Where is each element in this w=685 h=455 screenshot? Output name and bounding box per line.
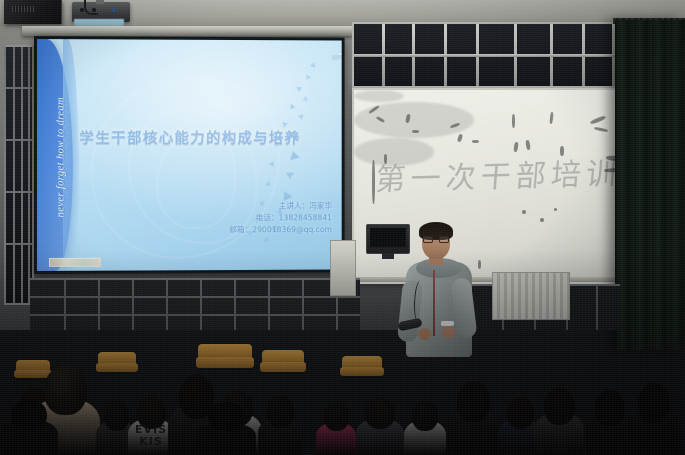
student-white-shirt-mid xyxy=(404,397,446,455)
student-plaid-head xyxy=(365,397,395,429)
chair-right xyxy=(340,367,384,376)
wall-speaker xyxy=(4,0,62,24)
shirt-graphic-text: EVIS KIS xyxy=(132,424,170,448)
student-stripes-right xyxy=(534,383,584,455)
projector-cable xyxy=(84,0,98,15)
lecturer-right-hand xyxy=(442,326,455,338)
chair-center xyxy=(196,357,254,368)
slide-presenter-line: 主讲人：冯家华 xyxy=(229,200,332,212)
transom-window xyxy=(352,22,637,88)
student-far-right-b-head xyxy=(638,383,670,423)
eyeglasses-icon xyxy=(423,236,449,243)
student-boy-right-head xyxy=(507,397,534,429)
chair-right-of-center xyxy=(260,362,306,372)
student-front-center-head xyxy=(208,402,245,431)
lecturer-zipper xyxy=(433,270,435,336)
projector-led-icon xyxy=(112,8,116,12)
lower-window-grid xyxy=(30,278,360,330)
student-pink-jacket xyxy=(316,399,356,455)
student-far-right-a-head xyxy=(595,390,625,426)
wall-radiator xyxy=(492,272,570,320)
student-front-left xyxy=(0,395,58,455)
student-white-shirt-mid-head xyxy=(412,401,438,431)
student-front-center xyxy=(196,399,256,455)
screen-roller-casing xyxy=(22,26,352,36)
window-curtain[interactable] xyxy=(615,20,685,350)
chair-mid-left xyxy=(96,363,138,372)
student-right-tall xyxy=(446,377,500,455)
slide-credits: 主讲人：冯家华 电话：13828458841 邮箱：290018369@qq.c… xyxy=(229,200,332,236)
student-front-left-head xyxy=(11,399,47,430)
lecturer-left-hand xyxy=(418,328,431,340)
student-far-right-a xyxy=(586,385,634,455)
classroom-scene: 第一次干部培训 neve xyxy=(0,0,685,455)
student-plaid xyxy=(356,393,404,455)
lecturer xyxy=(396,222,482,357)
student-center-dark-head xyxy=(267,395,294,428)
speaker-grille-icon xyxy=(12,6,34,12)
slide-phone-line: 电话：13828458841 xyxy=(229,212,332,224)
slide-vertical-motto: never forget how to dream xyxy=(55,88,66,218)
barred-window-left xyxy=(4,45,34,305)
student-dark-left-head xyxy=(104,401,129,431)
monitor-stand xyxy=(382,253,394,259)
student-stripes-right-head xyxy=(544,388,575,425)
slide-email-line: 邮箱：290018369@qq.com xyxy=(229,224,332,236)
school-logo-icon xyxy=(49,258,101,267)
student-right-tall-head xyxy=(457,381,490,422)
presentation-slide: never forget how to dream xyxy=(37,39,342,271)
whiteboard: 第一次干部培训 xyxy=(352,88,637,284)
projection-screen: never forget how to dream xyxy=(34,36,345,274)
student-far-right-b xyxy=(628,379,680,455)
side-cabinet xyxy=(330,240,356,296)
student-pink-jacket-head xyxy=(324,402,349,431)
student-center-dark xyxy=(258,391,302,455)
slide-title: 学生干部核心能力的构成与培养 xyxy=(37,127,342,148)
